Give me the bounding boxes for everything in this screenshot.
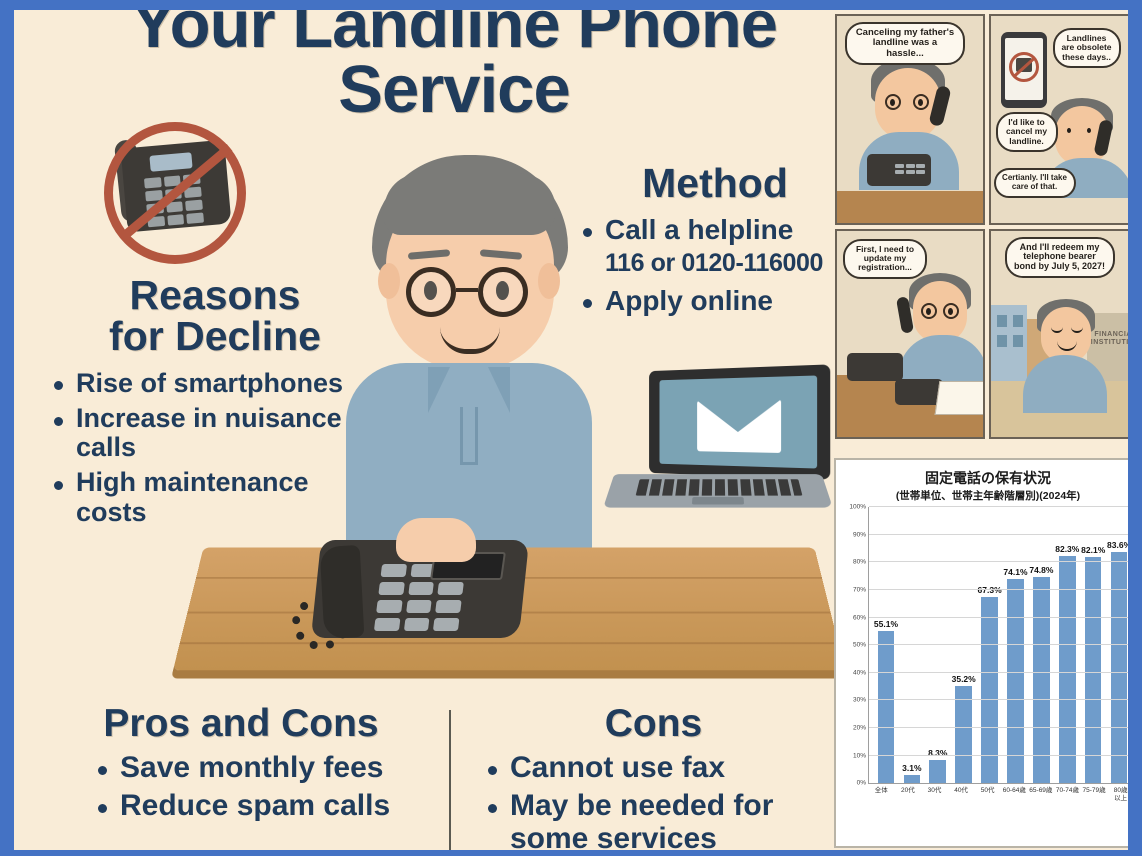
laptop-lid-shape [649, 364, 830, 479]
chart-bar-group: 35.2% [951, 507, 977, 783]
glasses-left-lens [406, 267, 456, 317]
chart-bar-value-label: 35.2% [952, 674, 976, 684]
chart-y-tick-label: 40% [853, 669, 866, 676]
chart-bar-group: 74.1% [1003, 507, 1029, 783]
elderly-man-illustration [344, 155, 594, 575]
comic-strip: Canceling my father's landline was a has… [831, 10, 1128, 443]
section-divider [449, 710, 451, 850]
chart-bars: 55.1%3.1%8.3%35.2%67.3%74.1%74.8%82.3%82… [873, 507, 1128, 783]
laptop-base-shape [603, 474, 833, 507]
cons-section: Cons Cannot use fax May be needed for so… [466, 702, 841, 850]
helpline-numbers: 116 or 0120-116000 [579, 249, 851, 278]
chart-gridline: 70% [869, 589, 1128, 590]
chart-bar [1059, 556, 1076, 783]
collar-left-shape [428, 367, 450, 413]
chart-y-tick-label: 50% [853, 642, 866, 649]
chart-bar [1111, 552, 1128, 783]
chart-gridline: 20% [869, 727, 1128, 728]
chart-bar-value-label: 8.3% [928, 748, 947, 758]
infographic-poster: Your Landline Phone Service Reasons for … [0, 0, 1142, 856]
keyboard-shape [636, 479, 803, 495]
chart-plot-area: 55.1%3.1%8.3%35.2%67.3%74.1%74.8%82.3%82… [868, 507, 1128, 784]
chart-y-tick-label: 70% [853, 586, 866, 593]
chart-bar-value-label: 67.3% [978, 585, 1002, 595]
chart-x-tick-label: 75-79歳 [1081, 787, 1108, 803]
chart-bar-value-label: 55.1% [874, 619, 898, 629]
desk-phone-icon [286, 518, 536, 648]
chart-gridline: 30% [869, 699, 1128, 700]
reasons-list: Rise of smartphones Increase in nuisance… [50, 369, 380, 527]
comic-panel-3: First, I need to update my registration.… [835, 229, 985, 440]
chart-x-tick-label: 50代 [974, 787, 1001, 803]
poster-canvas: Your Landline Phone Service Reasons for … [14, 10, 1128, 850]
method-heading: Method [579, 160, 851, 207]
speech-bubble: Certianly. I'll take care of that. [994, 168, 1076, 198]
chart-x-axis-labels: 全体20代30代40代50代60-64歳65-69歳70-74歳75-79歳80… [868, 787, 1128, 803]
list-item: Rise of smartphones [50, 369, 380, 398]
chart-gridline: 100% [869, 506, 1128, 507]
method-list: Call a helpline [579, 215, 851, 245]
ear-right-shape [538, 263, 560, 299]
chart-bar-value-label: 83.6% [1107, 540, 1128, 550]
chart-bar [929, 760, 946, 783]
collar-right-shape [488, 367, 510, 413]
chart-y-tick-label: 30% [853, 697, 866, 704]
chart-y-tick-label: 60% [853, 614, 866, 621]
chart-bar [1033, 577, 1050, 783]
thought-bubble: And I'll redeem my telephone bearer bond… [1005, 237, 1115, 279]
chart-x-tick-label: 20代 [895, 787, 922, 803]
chart-gridline: 10% [869, 755, 1128, 756]
pros-and-cons-section: Pros and Cons Save monthly fees Reduce s… [36, 702, 446, 829]
chart-bar-value-label: 74.1% [1003, 567, 1027, 577]
shirt-placket-shape [460, 407, 478, 465]
cons-heading: Cons [466, 702, 841, 746]
chart-bar [955, 686, 972, 783]
speech-bubble: I'd like to cancel my landline. [996, 112, 1058, 152]
chart-x-tick-label: 65-69歳 [1028, 787, 1055, 803]
chart-x-tick-label: 60-64歳 [1001, 787, 1028, 803]
chart-bar [878, 631, 895, 783]
chart-x-tick-label: 40代 [948, 787, 975, 803]
pros-heading: Pros and Cons [36, 702, 446, 746]
list-item: May be needed for some services [484, 790, 841, 850]
speech-bubble: Landlines are obsolete these days.. [1053, 28, 1121, 68]
chart-bar-value-label: 82.3% [1055, 544, 1079, 554]
chart-bar-group: 67.3% [977, 507, 1003, 783]
laptop-email-icon [599, 368, 834, 518]
chart-gridline: 60% [869, 617, 1128, 618]
chart-title: 固定電話の保有状況 [842, 470, 1128, 486]
pros-list: Save monthly fees Reduce spam calls [36, 752, 446, 823]
fringe-shape [384, 173, 556, 235]
chart-bar-value-label: 74.8% [1029, 565, 1053, 575]
list-item: Call a helpline [579, 215, 851, 245]
chart-bar [1007, 579, 1024, 784]
chart-bar-value-label: 3.1% [902, 763, 921, 773]
ear-left-shape [378, 263, 400, 299]
list-item: Save monthly fees [94, 752, 446, 784]
chart-y-tick-label: 0% [857, 780, 866, 787]
no-landline-icon [94, 118, 270, 268]
trackpad-shape [692, 497, 744, 504]
laptop-screen-shape [659, 375, 817, 468]
chart-y-tick-label: 20% [853, 724, 866, 731]
list-item: Increase in nuisance calls [50, 404, 380, 462]
chart-bar-group: 83.6% [1106, 507, 1128, 783]
chart-bar-group: 55.1% [873, 507, 899, 783]
page-title: Your Landline Phone Service [74, 10, 834, 122]
chart-y-tick-label: 10% [853, 752, 866, 759]
chart-y-tick-label: 80% [853, 559, 866, 566]
chart-bar-group: 74.8% [1028, 507, 1054, 783]
comic-panel-4: FINANCIAL INSTITUTION And I'll redeem my… [989, 229, 1129, 440]
method-section: Method Call a helpline 116 or 0120-11600… [579, 160, 851, 322]
glasses-right-lens [478, 267, 528, 317]
list-item: Cannot use fax [484, 752, 841, 784]
reasons-heading: Reasons for Decline [50, 275, 380, 357]
comic-panel-1: Canceling my father's landline was a has… [835, 14, 985, 225]
financial-institution-sign: FINANCIAL INSTITUTION [1087, 331, 1129, 348]
chart-x-tick-label: 30代 [921, 787, 948, 803]
method-list-2: Apply online [579, 286, 851, 316]
speech-bubble: Canceling my father's landline was a has… [845, 22, 965, 65]
chart-bar-group: 82.1% [1080, 507, 1106, 783]
phone-handset-shape [320, 545, 365, 639]
list-item: Apply online [579, 286, 851, 316]
speech-bubble: First, I need to update my registration.… [843, 239, 927, 279]
chart-gridline: 90% [869, 534, 1128, 535]
chart-bar [904, 775, 921, 784]
chart-x-tick-label: 全体 [868, 787, 895, 803]
chart-subtitle: (世帯単位、世帯主年齢階層別)(2024年) [842, 488, 1128, 503]
list-item: Reduce spam calls [94, 790, 446, 822]
chart-bar-group: 8.3% [925, 507, 951, 783]
chart-bar-value-label: 82.1% [1081, 545, 1105, 555]
chart-gridline: 50% [869, 644, 1128, 645]
chart-y-tick-label: 100% [849, 504, 866, 511]
envelope-icon [697, 399, 781, 453]
chart-y-tick-label: 90% [853, 531, 866, 538]
chart-gridline: 40% [869, 672, 1128, 673]
chart-gridline: 80% [869, 561, 1128, 562]
chart-x-tick-label: 80歳 以上 [1107, 787, 1128, 803]
comic-panel-2: Landlines are obsolete these days.. I'd … [989, 14, 1129, 225]
landline-ownership-chart: 固定電話の保有状況 (世帯単位、世帯主年齢階層別)(2024年) 55.1%3.… [834, 458, 1128, 848]
cons-list: Cannot use fax May be needed for some se… [466, 752, 841, 850]
chart-bar [1085, 557, 1102, 784]
chart-bar-group: 82.3% [1054, 507, 1080, 783]
chart-x-tick-label: 70-74歳 [1054, 787, 1081, 803]
reasons-for-decline-section: Reasons for Decline Rise of smartphones … [50, 275, 380, 533]
hand-shape [396, 518, 476, 562]
chart-bar-group: 3.1% [899, 507, 925, 783]
glasses-bridge [456, 288, 478, 292]
